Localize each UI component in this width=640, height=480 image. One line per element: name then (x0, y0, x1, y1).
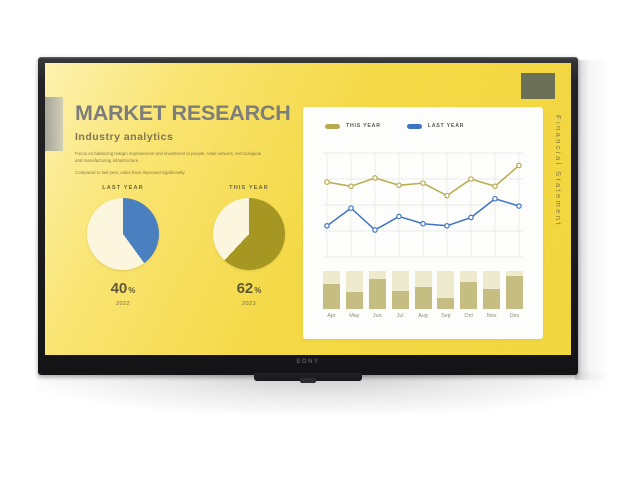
bar-segment-this-year (506, 276, 523, 309)
bar-segment-this-year (483, 289, 500, 309)
bar-segment-this-year (392, 291, 409, 309)
bar-segment-this-year (346, 292, 363, 309)
left-accent-tab (45, 97, 63, 151)
slide-text-column: MARKET RESEARCH Industry analytics Focus… (75, 103, 303, 181)
month-label: Jun (369, 313, 386, 319)
pie-value-this-year: 62% (197, 281, 301, 296)
legend-label-last-year: LAST YEAR (428, 123, 465, 129)
legend-item-this-year: THIS YEAR (325, 123, 381, 129)
bar-segment-this-year (437, 298, 454, 309)
bar-segment-this-year (369, 279, 386, 309)
chart-card: THIS YEAR LAST YEAR AprMayJunJulAugSepOc… (303, 107, 543, 339)
bar-segment-this-year (415, 287, 432, 309)
bar-column (506, 271, 523, 309)
bar-column (483, 271, 500, 309)
bar-segment-remainder (323, 271, 340, 284)
month-label: Nov (483, 313, 500, 319)
display-side-shadow (575, 60, 609, 380)
pie-value-last-year: 40% (71, 281, 175, 296)
pie-year-last-year: 2022 (71, 301, 175, 307)
bar-segment-remainder (392, 271, 409, 291)
pie-caption-last-year: LAST YEAR (71, 185, 175, 191)
pie-block-last-year: LAST YEAR 40% 2022 (71, 185, 175, 307)
vertical-section-label: Financial Statement (554, 115, 563, 227)
pie-block-this-year: THIS YEAR 62% 2023 (197, 185, 301, 307)
bar-column (437, 271, 454, 309)
month-axis-labels: AprMayJunJulAugSepOctNovDec (323, 313, 523, 319)
month-label: Aug (415, 313, 432, 319)
pie-chart-last-year (87, 198, 159, 270)
legend-label-this-year: THIS YEAR (346, 123, 381, 129)
bar-chart-row (323, 271, 523, 309)
month-label: Sep (437, 313, 454, 319)
bezel-highlight (38, 57, 578, 59)
legend-swatch-icon-last-year (407, 124, 422, 129)
presentation-slide: Financial Statement MARKET RESEARCH Indu… (45, 63, 571, 355)
body-paragraph-1: Focus on balancing margin improvement an… (75, 151, 261, 165)
bar-column (392, 271, 409, 309)
pie-chart-group: LAST YEAR 40% 2022 THIS YEAR 62% 20 (71, 185, 301, 307)
page-subtitle: Industry analytics (75, 131, 303, 143)
body-paragraph-2: Compared to last year, sales have improv… (75, 170, 261, 177)
pie-percent-sign-last-year: % (128, 286, 135, 295)
pie-year-this-year: 2023 (197, 301, 301, 307)
pie-percent-sign-this-year: % (254, 286, 261, 295)
pie-value-number-last-year: 40 (111, 280, 128, 297)
bar-column (346, 271, 363, 309)
bar-column (460, 271, 477, 309)
pie-chart-this-year (213, 198, 285, 270)
bar-segment-remainder (483, 271, 500, 289)
top-right-accent-block (521, 73, 555, 99)
bar-column (369, 271, 386, 309)
bar-segment-remainder (437, 271, 454, 298)
page-title: MARKET RESEARCH (75, 103, 303, 125)
bar-segment-this-year (460, 282, 477, 309)
bar-segment-this-year (323, 284, 340, 309)
sony-display-chassis: Financial Statement MARKET RESEARCH Indu… (38, 57, 578, 375)
month-label: Dec (506, 313, 523, 319)
bar-column (415, 271, 432, 309)
bar-segment-remainder (460, 271, 477, 282)
month-label: Oct (460, 313, 477, 319)
display-stand-nub (300, 378, 316, 383)
display-screen[interactable]: Financial Statement MARKET RESEARCH Indu… (45, 63, 571, 355)
pie-value-number-this-year: 62 (237, 280, 254, 297)
bar-segment-remainder (415, 271, 432, 287)
bar-column (323, 271, 340, 309)
legend-item-last-year: LAST YEAR (407, 123, 465, 129)
pie-caption-this-year: THIS YEAR (197, 185, 301, 191)
bar-segment-remainder (369, 271, 386, 279)
month-label: Jul (392, 313, 409, 319)
line-chart-plot (323, 147, 523, 265)
legend-swatch-icon-this-year (325, 124, 340, 129)
month-label: May (346, 313, 363, 319)
bar-segment-remainder (346, 271, 363, 292)
month-label: Apr (323, 313, 340, 319)
sony-brand-logo: SONY (38, 359, 578, 365)
screenshot-stage: Financial Statement MARKET RESEARCH Indu… (0, 0, 640, 480)
chart-legend: THIS YEAR LAST YEAR (325, 123, 464, 129)
